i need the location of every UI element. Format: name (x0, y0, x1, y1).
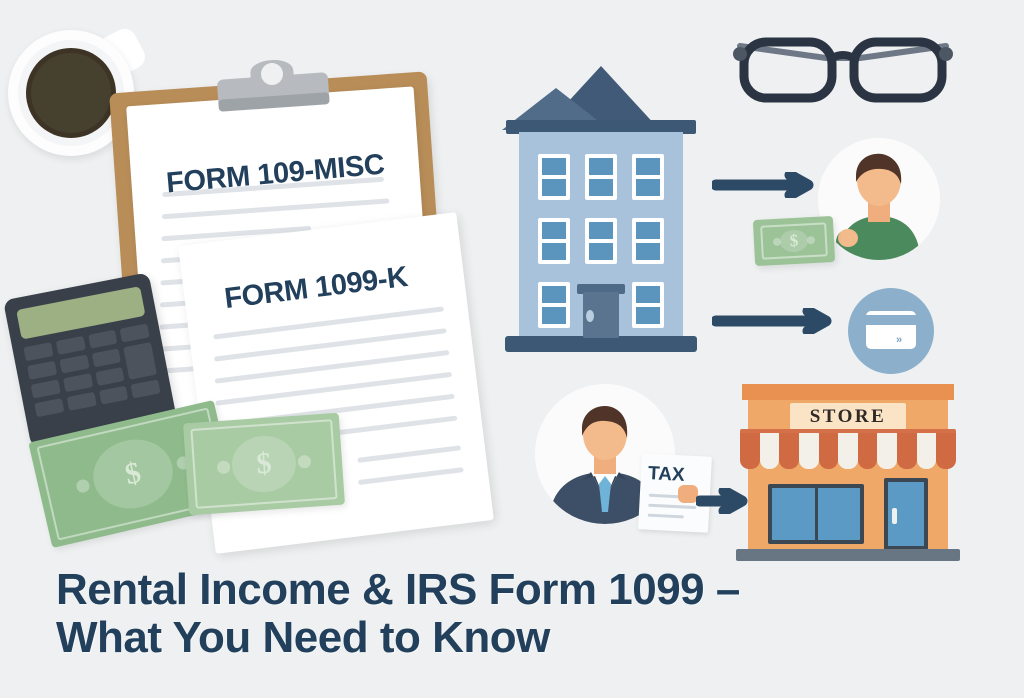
dollar-bill-icon: $ (753, 216, 835, 266)
credit-card-magnetic-stripe (866, 315, 916, 325)
eyeglasses-icon (730, 28, 956, 110)
dollar-sign: $ (230, 434, 297, 495)
tax-label: TAX (647, 463, 685, 487)
coffee-liquid-sheen (31, 53, 111, 133)
advisor-hand (678, 485, 698, 503)
dollar-sign: $ (779, 229, 809, 253)
arrow-right-icon (712, 172, 818, 198)
illustration-canvas: FORM 109-MISC FORM 1099-K $ $ (0, 0, 1024, 698)
storefront-cornice (742, 384, 954, 400)
store-sign: STORE (790, 403, 906, 430)
page-title-line-2: What You Need to Know (56, 614, 876, 662)
arrow-right-icon (696, 488, 752, 514)
clipboard-clip-icon (213, 46, 332, 116)
page-title: Rental Income & IRS Form 1099 – What You… (56, 566, 876, 662)
person-with-cash-icon (818, 138, 940, 260)
storefront-base (736, 549, 960, 561)
store-door (884, 478, 928, 550)
store-sign-label: STORE (810, 406, 887, 428)
dollar-sign: $ (87, 432, 179, 516)
chevron-double-right-icon: » (896, 334, 901, 346)
store-door-handle (892, 508, 897, 524)
arrow-right-icon (712, 308, 838, 334)
page-title-line-1: Rental Income & IRS Form 1099 – (56, 566, 876, 614)
store-window (768, 484, 864, 544)
apartment-building-icon (498, 58, 704, 358)
storefront-awning (740, 433, 956, 469)
calculator-keypad (23, 323, 160, 417)
store-window-glass (772, 488, 860, 540)
dollar-bill-icon: $ (183, 413, 345, 516)
